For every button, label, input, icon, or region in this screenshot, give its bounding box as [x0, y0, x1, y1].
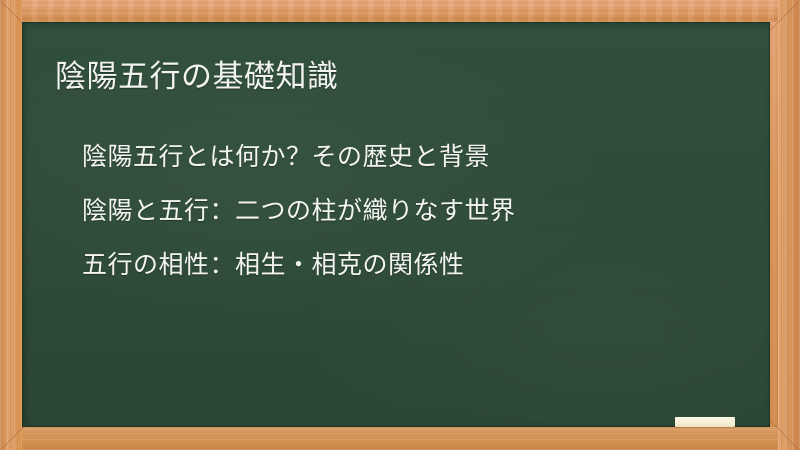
bullet-list: 陰陽五行とは何か？その歴史と背景 陰陽と五行：二つの柱が織りなす世界 五行の相性… [82, 130, 762, 292]
bullet-item-2: 陰陽と五行：二つの柱が織りなす世界 [82, 184, 762, 238]
bullet-item-1: 陰陽五行とは何か？その歴史と背景 [82, 130, 762, 184]
frame-rail-top [0, 0, 800, 22]
slide-title: 陰陽五行の基礎知識 [55, 58, 339, 97]
slide-root: 陰陽五行の基礎知識 陰陽五行とは何か？その歴史と背景 陰陽と五行：二つの柱が織り… [0, 0, 800, 450]
frame-rail-bottom-ledge [0, 427, 800, 450]
chalk-stick-icon [675, 417, 735, 427]
frame-stile-left [0, 0, 22, 450]
bullet-item-3: 五行の相性：相生・相克の関係性 [82, 238, 762, 292]
frame-stile-right [778, 0, 800, 450]
chalkboard-surface: 陰陽五行の基礎知識 陰陽五行とは何か？その歴史と背景 陰陽と五行：二つの柱が織り… [22, 22, 770, 427]
